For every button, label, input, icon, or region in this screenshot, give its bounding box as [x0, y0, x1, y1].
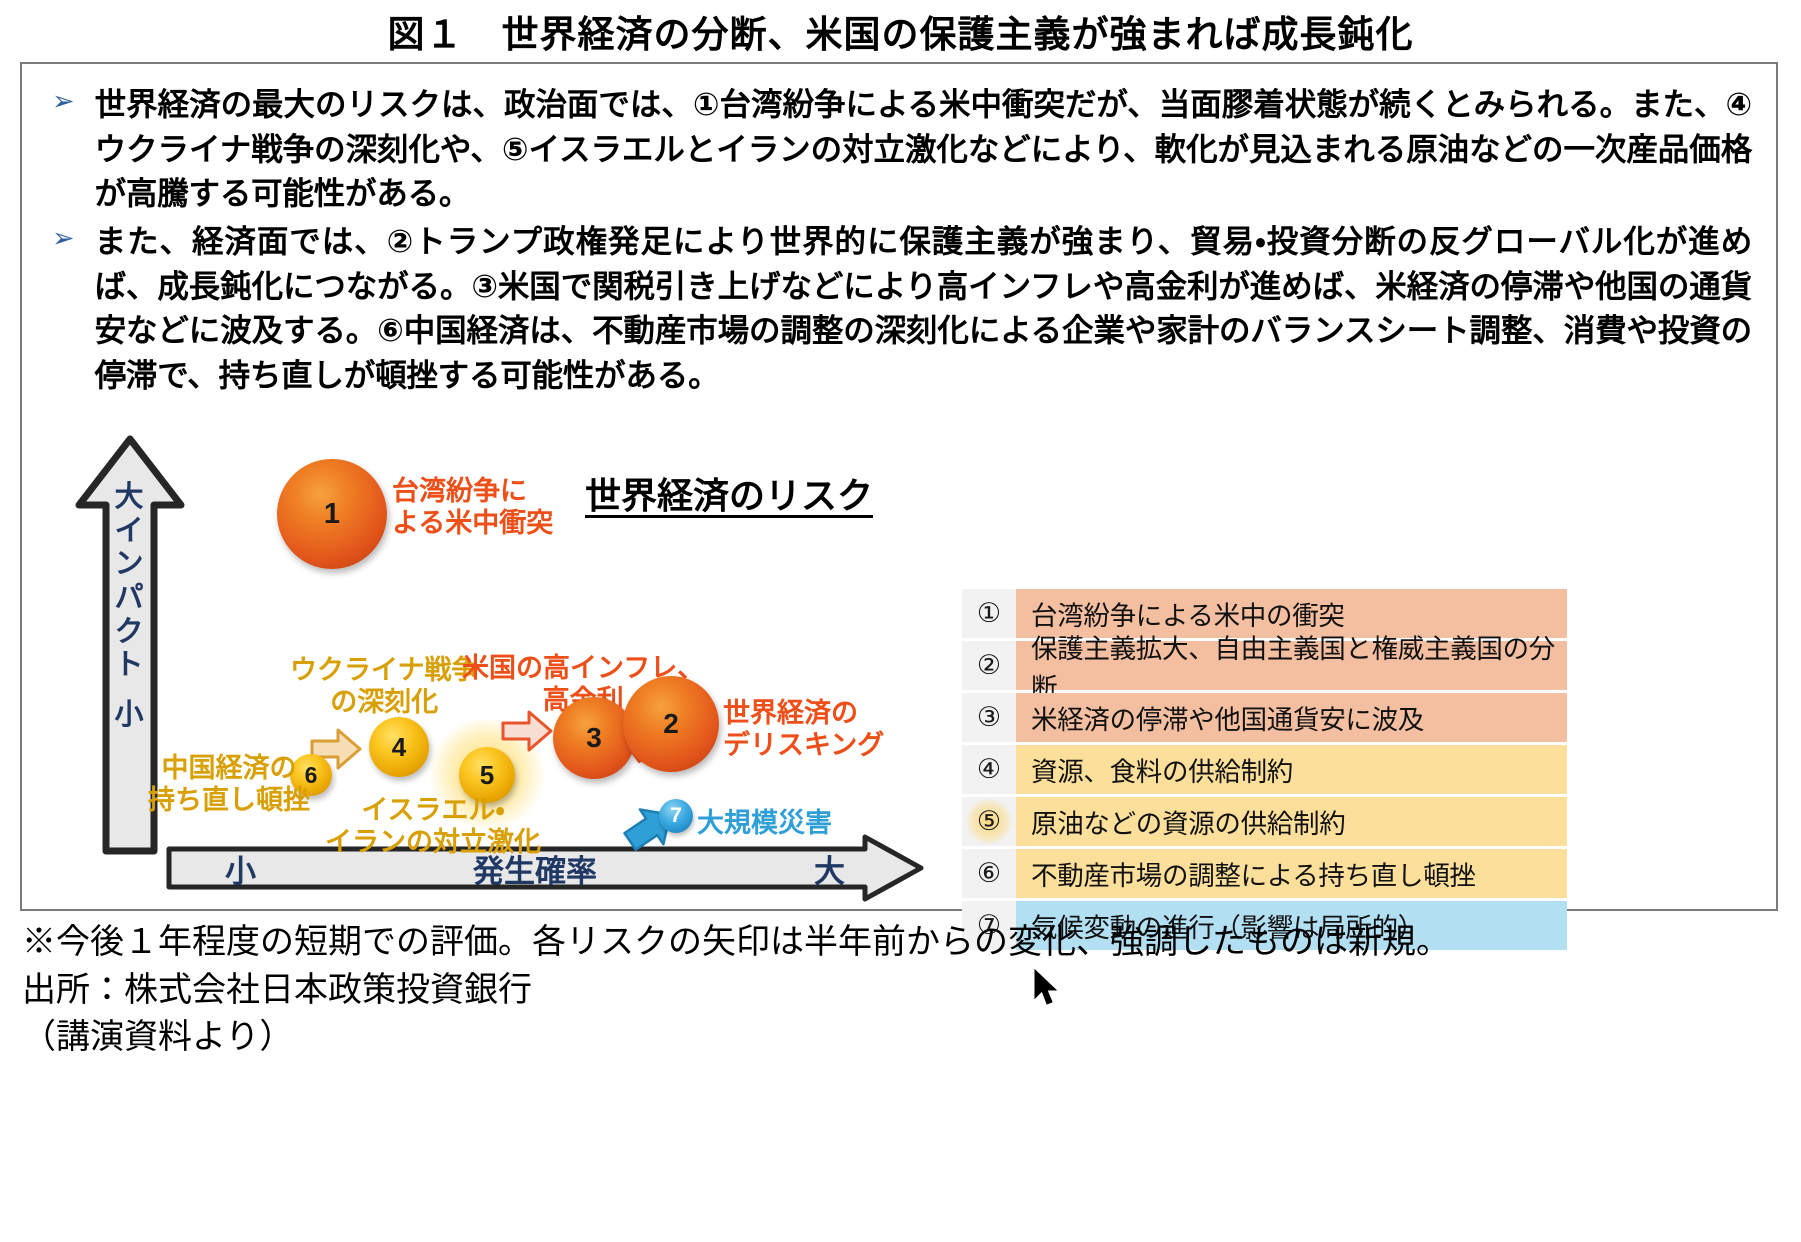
legend-row-number-2: ②	[962, 641, 1016, 690]
legend-row: ⑤ 原油などの資源の供給制約	[962, 797, 1567, 846]
impact-axis-title-char-1: イ	[94, 515, 164, 549]
risk-bubble-2-label-line1: 世界経済の	[723, 697, 884, 729]
risk-bubble-1-number: 1	[324, 498, 340, 531]
footer-source: 出所：株式会社日本政策投資銀行	[22, 968, 1782, 1014]
legend-row-number-5: ⑤	[962, 797, 1016, 846]
risk-bubble-3[interactable]: 3	[553, 697, 635, 779]
risk-bubble-5-number: 5	[480, 760, 494, 791]
legend-row: ⑥ 不動産市場の調整による持ち直し頓挫	[962, 849, 1567, 898]
legend-row-number-4: ④	[962, 745, 1016, 794]
impact-axis-tick-low: 小	[94, 699, 164, 733]
risk-bubble-6-label-line1: 中国経済の	[148, 752, 310, 784]
risk-bubble-7-label: 大規模災害	[697, 807, 832, 839]
risk-bubble-4-label-line1: ウクライナ戦争	[290, 654, 478, 686]
legend-row-text-4: 資源、食料の供給制約	[1016, 745, 1567, 794]
impact-axis-tick-high: 大	[94, 481, 164, 515]
risk-bubble-4[interactable]: 4	[369, 717, 429, 777]
risk-legend-table: ① 台湾紛争による米中の衝突 ② 保護主義拡大、自由主義国と権威主義国の分断 ③…	[962, 589, 1567, 953]
risk-bubble-4-label-line2: の深刻化	[290, 686, 478, 718]
probability-axis-tick-low: 小	[225, 846, 256, 891]
risk-bubble-3-number: 3	[586, 722, 602, 754]
content-box: ➢ 世界経済の最大のリスクは、政治面では、①台湾紛争による米中衝突だが、当面膠着…	[20, 62, 1778, 911]
risk-bubble-5-label: イスラエル・ イランの対立激化	[325, 794, 541, 859]
risk-bubble-4-label: ウクライナ戦争 の深刻化	[290, 654, 478, 719]
footer-notes: ※今後１年程度の短期での評価。各リスクの矢印は半年前からの変化、強調したものは新…	[22, 920, 1782, 1063]
bullet-paragraph-1: ➢ 世界経済の最大のリスクは、政治面では、①台湾紛争による米中衝突だが、当面膠着…	[52, 82, 1752, 216]
risk-bubble-1-label-line2: よる米中衝突	[392, 507, 553, 539]
legend-row-text-6: 不動産市場の調整による持ち直し頓挫	[1016, 849, 1567, 898]
legend-row-number-6: ⑥	[962, 849, 1016, 898]
impact-axis-label: 大 イ ン パ ク ト 小	[94, 481, 164, 732]
risk-bubble-2-label-line2: デリスキング	[723, 729, 884, 761]
legend-row-number-3: ③	[962, 693, 1016, 742]
bullet-marker-icon: ➢	[52, 219, 75, 252]
probability-axis-tick-high: 大	[814, 846, 845, 891]
bullet-paragraph-2: ➢ また、経済面では、②トランプ政権発足により世界的に保護主義が強まり、貿易・投…	[52, 219, 1752, 398]
risk-bubble-6-label: 中国経済の 持ち直し頓挫	[148, 752, 310, 817]
risk-bubble-1-label: 台湾紛争に よる米中衝突	[392, 475, 553, 540]
risk-bubble-1[interactable]: 1	[277, 459, 387, 569]
risk-bubble-5-label-line1: イスラエル・	[325, 794, 541, 826]
bullet-text-1: 世界経済の最大のリスクは、政治面では、①台湾紛争による米中衝突だが、当面膠着状態…	[95, 82, 1752, 216]
impact-axis-title-char-5: ト	[94, 649, 164, 683]
impact-axis-title-char-3: パ	[94, 582, 164, 616]
risk-bubble-7-label-line1: 大規模災害	[697, 807, 832, 839]
figure-page: 図１ 世界経済の分断、米国の保護主義が強まれば成長鈍化 ➢ 世界経済の最大のリス…	[0, 0, 1801, 1242]
risk-bubble-4-number: 4	[392, 732, 406, 763]
risk-bubble-2-label: 世界経済の デリスキング	[723, 697, 884, 762]
risk-bubble-2-number: 2	[663, 708, 679, 740]
impact-axis-title-char-2: ン	[94, 548, 164, 582]
risk-bubble-5-label-line2: イランの対立激化	[325, 826, 541, 858]
legend-row-text-5: 原油などの資源の供給制約	[1016, 797, 1567, 846]
bullet-marker-icon: ➢	[52, 82, 75, 115]
legend-row: ② 保護主義拡大、自由主義国と権威主義国の分断	[962, 641, 1567, 690]
risk-bubble-7[interactable]: 7	[659, 799, 693, 833]
legend-row-text-2: 保護主義拡大、自由主義国と権威主義国の分断	[1016, 641, 1567, 690]
trend-arrow-right-3-icon	[501, 709, 553, 758]
legend-row-number-1: ①	[962, 589, 1016, 638]
legend-row: ③ 米経済の停滞や他国通貨安に波及	[962, 693, 1567, 742]
page-title: 図１ 世界経済の分断、米国の保護主義が強まれば成長鈍化	[0, 4, 1801, 58]
footer-source-sub: （講演資料より）	[22, 1015, 1782, 1061]
risk-bubble-2[interactable]: 2	[623, 676, 719, 772]
bullet-text-2: また、経済面では、②トランプ政権発足により世界的に保護主義が強まり、貿易・投資分…	[95, 219, 1752, 398]
footer-note: ※今後１年程度の短期での評価。各リスクの矢印は半年前からの変化、強調したものは新…	[22, 920, 1782, 966]
impact-axis-title-char-4: ク	[94, 616, 164, 650]
risk-bubble-1-label-line1: 台湾紛争に	[392, 475, 553, 507]
risk-bubble-6-label-line2: 持ち直し頓挫	[148, 784, 310, 816]
legend-row-text-3: 米経済の停滞や他国通貨安に波及	[1016, 693, 1567, 742]
legend-row: ④ 資源、食料の供給制約	[962, 745, 1567, 794]
risk-bubble-7-number: 7	[670, 804, 682, 828]
chart-title: 世界経済のリスク	[585, 467, 873, 519]
